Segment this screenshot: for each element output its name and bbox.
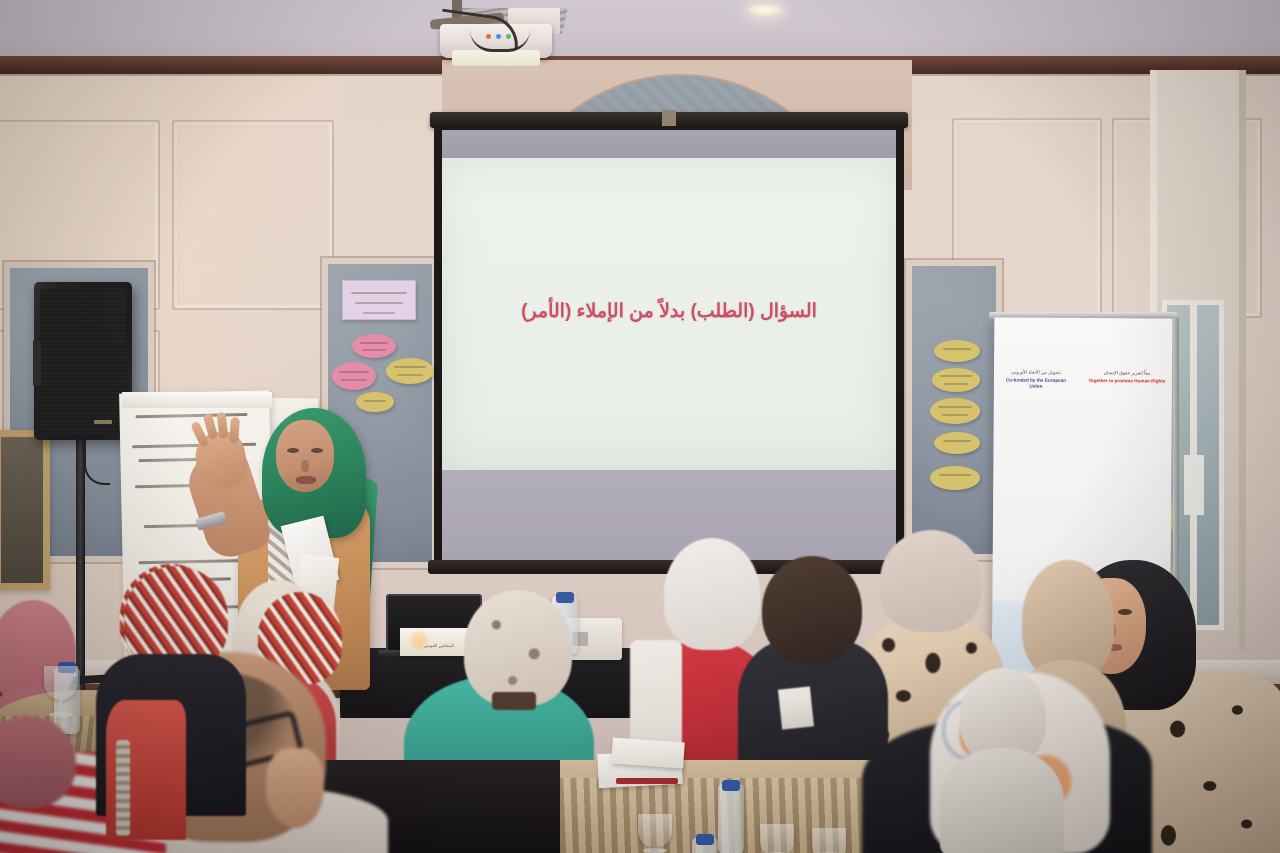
glass-foot [643,848,667,853]
screen-surface: السؤال (الطلب) بدلاً من الإملاء (الأمر) [442,130,896,562]
drinking-glass [812,828,846,853]
speaker-cable [84,425,110,485]
sticky-note [356,392,394,412]
framed-artwork [0,430,50,590]
screen-bottom-band [442,470,896,562]
sticky-note [932,368,980,392]
projection-screen: السؤال (الطلب) بدلاً من الإملاء (الأمر) [434,126,904,566]
speaker-logo [94,420,112,424]
attendee-ear [266,748,324,828]
speaker-handle [33,340,41,386]
sticky-note [934,432,980,454]
bottle-cap [722,780,740,791]
sticky-note [934,340,980,362]
drinking-glass [760,824,794,853]
projector-lens-housing [452,50,540,66]
presenter-face [276,420,334,492]
screen-top-band [442,130,896,158]
wall-panel [172,120,334,310]
ceiling [0,0,1280,64]
bottle-cap [696,834,714,845]
drinking-glass [638,814,672,848]
nchr-caption-english: Together to promote Human Rights [1088,378,1166,384]
papers-on-table [611,738,685,769]
wall-card [342,280,416,320]
speaker-grill [40,288,126,434]
eu-caption-english: Co-funded by the European Union [1000,377,1072,389]
drinking-glass [44,666,78,700]
sticky-note [930,466,980,490]
pa-speaker [34,282,132,440]
sticky-note [352,334,396,358]
bottle-cap [556,592,574,603]
ceiling-light [748,4,782,16]
sticky-note [332,362,376,390]
flipchart-top-edge [122,392,272,408]
pen [616,778,678,784]
eu-caption-arabic: بتمويل من الاتحاد الأوروبي [1002,369,1070,375]
slide-text: السؤال (الطلب) بدلاً من الإملاء (الأمر) [442,300,896,323]
conference-room-photo: السؤال (الطلب) بدلاً من الإملاء (الأمر) [0,0,1280,853]
sticky-note [386,358,434,384]
light-flare [408,630,430,652]
water-bottle [718,784,744,853]
necklace [116,740,130,836]
nchr-caption-arabic: معاً لتعزيز حقوق الإنسان [1090,370,1164,377]
cabinet-paper [1184,455,1204,515]
sticky-note [930,398,980,424]
glass-foot [49,712,73,717]
